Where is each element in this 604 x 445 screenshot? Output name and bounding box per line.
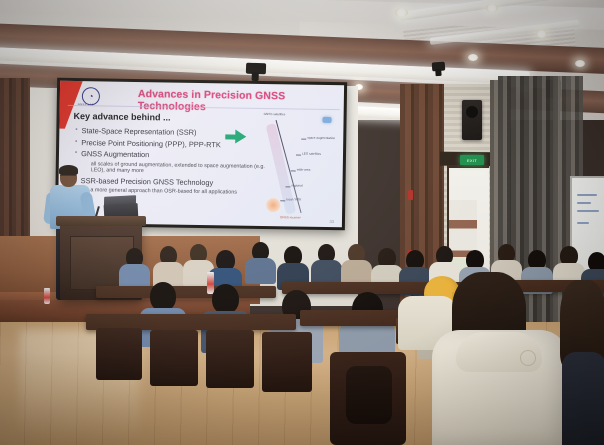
slide-page-number: 33 <box>329 219 334 224</box>
satellite-icon <box>323 117 332 123</box>
podium-top <box>56 216 146 226</box>
fire-alarm-icon <box>408 190 413 200</box>
hoodie-logo-icon <box>520 350 536 366</box>
ceiling-camera-icon <box>432 62 446 72</box>
ceiling-downlight <box>395 8 408 17</box>
receiver-marker-icon <box>266 198 280 212</box>
wall-speaker-icon <box>462 100 482 140</box>
slide-bullet: ▪ GNSS Augmentation <box>75 149 275 161</box>
audience-chair <box>262 332 312 392</box>
person-foreground-right <box>562 352 604 445</box>
presenter-hair <box>59 165 78 175</box>
green-arrow-icon <box>235 130 246 144</box>
audience-torso <box>245 258 276 284</box>
ceiling-downlight <box>486 4 498 12</box>
exit-sign: EXIT <box>460 155 484 165</box>
audience-chair <box>206 330 254 388</box>
ceiling-downlight <box>536 30 547 38</box>
ceiling-downlight <box>575 60 585 67</box>
lecture-hall-photo: EXIT ◔ GNSS LAB Advances in Precision GN… <box>0 0 604 445</box>
audience-chair <box>150 330 198 386</box>
audience-desk <box>96 286 276 298</box>
bullet-subtext: all scales of ground augmentation, exten… <box>91 161 275 177</box>
diagram-tier-label: LEO satellites <box>302 153 332 157</box>
diagram-bottom-label: GNSS receiver <box>280 217 314 221</box>
water-bottle <box>44 288 50 304</box>
ceiling-camera-icon <box>246 63 266 75</box>
bullet-marker-icon: ▪ <box>75 138 77 147</box>
diagram-tier-label: wide-area <box>297 169 327 173</box>
audience-chair <box>96 328 142 380</box>
presentation-slide: ◔ GNSS LAB Advances in Precision GNSS Te… <box>58 81 344 227</box>
ceiling-downlight <box>468 54 478 61</box>
bullet-text: State-Space Representation (SSR) <box>81 126 196 137</box>
bullet-marker-icon: ▪ <box>75 149 77 158</box>
diagram-tier-label: space augmentation <box>307 137 337 141</box>
chair-back <box>346 366 392 424</box>
slide-heading: Key advance behind ... <box>74 111 171 123</box>
bullet-text: GNSS Augmentation <box>81 149 149 159</box>
bullet-marker-icon: ▪ <box>75 126 77 135</box>
presenter-glasses-icon <box>60 175 76 180</box>
audience-head <box>150 282 176 311</box>
audience-head <box>212 284 239 314</box>
slide-bullet: ▪ SSR-based Precision GNSS Technology <box>75 176 275 188</box>
diagram-tier-label: local / RTK <box>286 198 316 202</box>
slide-diagram: GNSS satellites space augmentation LEO s… <box>260 110 340 223</box>
bullet-text: Precise Point Positioning (PPP), PPP-RTK <box>81 138 221 149</box>
diagram-top-label: GNSS satellites <box>264 113 290 117</box>
diagram-tier-label: regional <box>291 184 321 188</box>
bullet-text: SSR-based Precision GNSS Technology <box>81 176 214 187</box>
